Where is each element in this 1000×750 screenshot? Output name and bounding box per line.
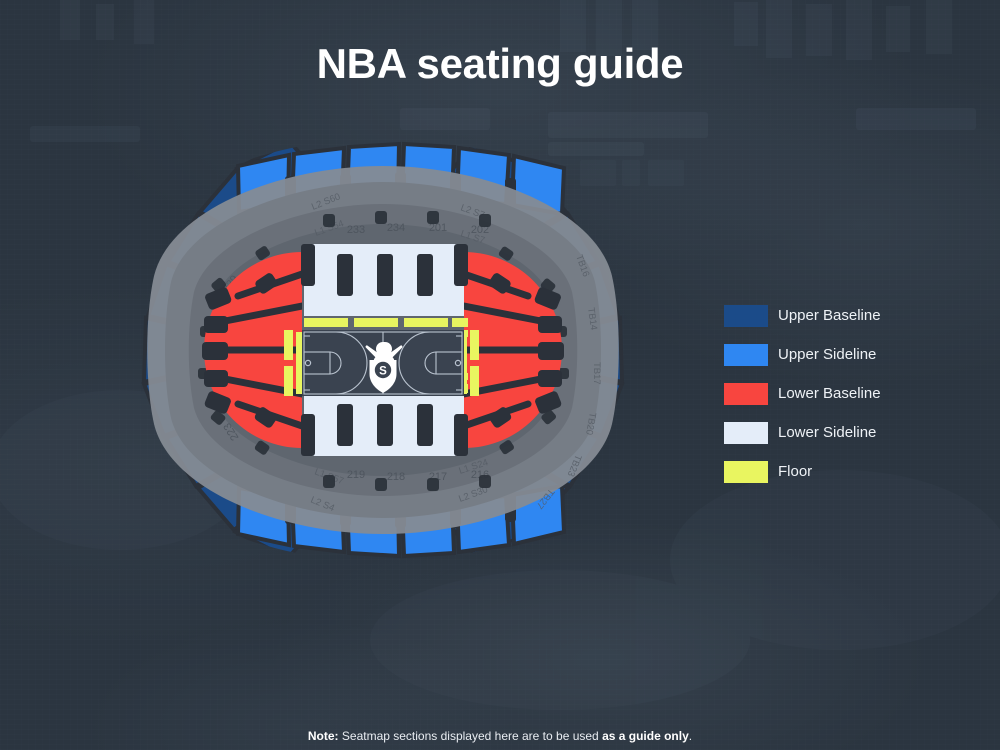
footer-note-text: Seatmap sections displayed here are to b… <box>339 729 603 743</box>
legend-swatch-lower-baseline <box>724 383 768 405</box>
legend-swatch-upper-sideline <box>724 344 768 366</box>
footer-note-prefix: Note: <box>308 729 339 743</box>
legend-swatch-floor <box>724 461 768 483</box>
footer-note: Note: Seatmap sections displayed here ar… <box>0 728 1000 744</box>
legend-item-lower-baseline[interactable]: Lower Baseline <box>724 383 984 405</box>
legend: Upper Baseline Upper Sideline Lower Base… <box>724 305 984 500</box>
svg-text:218: 218 <box>387 471 405 483</box>
svg-text:S: S <box>379 366 387 378</box>
seatmap-diagram[interactable]: 233 234 201 202 219 218 217 216 229 226 … <box>88 130 678 570</box>
footer-note-suffix: . <box>689 729 692 743</box>
svg-text:TB17: TB17 <box>591 362 602 385</box>
svg-text:233: 233 <box>347 224 365 236</box>
legend-label-floor: Floor <box>778 461 812 483</box>
legend-swatch-upper-baseline <box>724 305 768 327</box>
legend-item-upper-baseline[interactable]: Upper Baseline <box>724 305 984 327</box>
legend-item-floor[interactable]: Floor <box>724 461 984 483</box>
legend-swatch-lower-sideline <box>724 422 768 444</box>
page-title: NBA seating guide <box>0 40 1000 88</box>
svg-text:234: 234 <box>387 222 405 234</box>
seatmap-container[interactable]: 233 234 201 202 219 218 217 216 229 226 … <box>88 130 678 570</box>
legend-label-lower-sideline: Lower Sideline <box>778 422 876 444</box>
footer-note-emphasis: as a guide only <box>602 729 689 743</box>
legend-label-lower-baseline: Lower Baseline <box>778 383 881 405</box>
legend-label-upper-sideline: Upper Sideline <box>778 344 876 366</box>
legend-label-upper-baseline: Upper Baseline <box>778 305 881 327</box>
legend-item-upper-sideline[interactable]: Upper Sideline <box>724 344 984 366</box>
legend-item-lower-sideline[interactable]: Lower Sideline <box>724 422 984 444</box>
svg-text:219: 219 <box>347 469 365 481</box>
lower-sideline-top[interactable] <box>301 244 468 316</box>
